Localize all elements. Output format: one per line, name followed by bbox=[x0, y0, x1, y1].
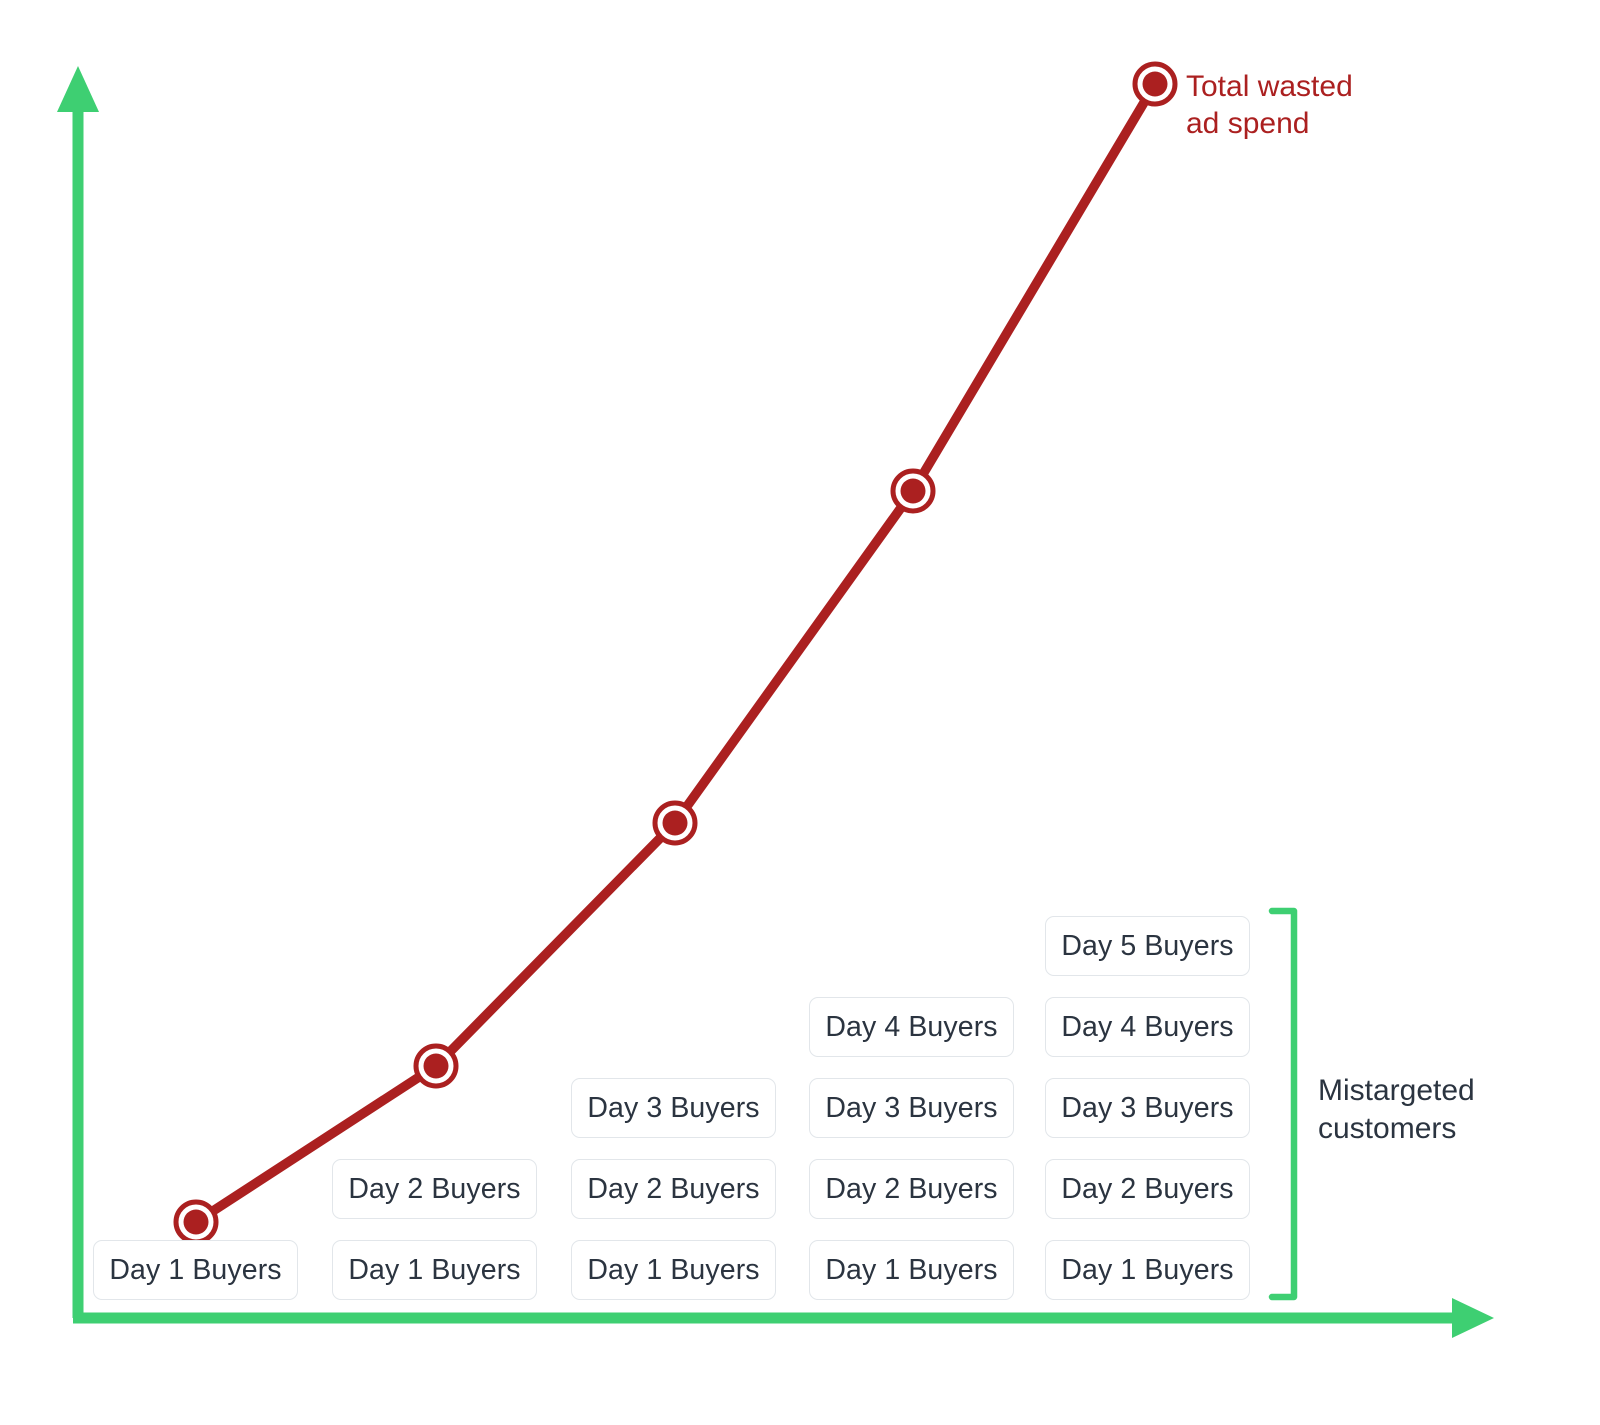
list-item-c4-r3[interactable]: Day 2 Buyers bbox=[809, 1159, 1014, 1219]
bracket-annotation-line-1: Mistargeted bbox=[1318, 1072, 1475, 1110]
y-axis-arrow bbox=[57, 66, 99, 1318]
data-point-day-3 bbox=[655, 803, 695, 843]
list-item-c3-r3[interactable]: Day 1 Buyers bbox=[571, 1240, 776, 1300]
vector-layer bbox=[0, 0, 1600, 1425]
bracket-annotation-line-2: customers bbox=[1318, 1110, 1475, 1148]
data-point-day-2 bbox=[416, 1046, 456, 1086]
data-point-day-4 bbox=[893, 471, 933, 511]
data-point-day-1 bbox=[176, 1202, 216, 1242]
list-item-c2-r2[interactable]: Day 1 Buyers bbox=[332, 1240, 537, 1300]
list-item-c4-r2[interactable]: Day 3 Buyers bbox=[809, 1078, 1014, 1138]
list-item-c5-r2[interactable]: Day 4 Buyers bbox=[1045, 997, 1250, 1057]
list-item-c5-r4[interactable]: Day 2 Buyers bbox=[1045, 1159, 1250, 1219]
list-item-c1-r1[interactable]: Day 1 Buyers bbox=[93, 1240, 298, 1300]
list-item-c3-r1[interactable]: Day 3 Buyers bbox=[571, 1078, 776, 1138]
mistargeted-bracket bbox=[1272, 911, 1294, 1297]
list-item-c2-r1[interactable]: Day 2 Buyers bbox=[332, 1159, 537, 1219]
x-axis-arrow bbox=[73, 1298, 1494, 1338]
series-annotation-line-2: ad spend bbox=[1186, 106, 1353, 143]
list-item-c4-r1[interactable]: Day 4 Buyers bbox=[809, 997, 1014, 1057]
list-item-c5-r5[interactable]: Day 1 Buyers bbox=[1045, 1240, 1250, 1300]
series-annotation-line-1: Total wasted bbox=[1186, 69, 1353, 106]
list-item-c4-r4[interactable]: Day 1 Buyers bbox=[809, 1240, 1014, 1300]
data-point-day-5 bbox=[1135, 64, 1175, 104]
list-item-c5-r1[interactable]: Day 5 Buyers bbox=[1045, 916, 1250, 976]
data-point-markers bbox=[176, 64, 1175, 1242]
diagram-canvas: Total wasted ad spend Mistargeted custom… bbox=[0, 0, 1600, 1425]
series-annotation-total-wasted-ad-spend: Total wasted ad spend bbox=[1186, 69, 1353, 143]
bracket-annotation-mistargeted-customers: Mistargeted customers bbox=[1318, 1072, 1475, 1147]
list-item-c3-r2[interactable]: Day 2 Buyers bbox=[571, 1159, 776, 1219]
list-item-c5-r3[interactable]: Day 3 Buyers bbox=[1045, 1078, 1250, 1138]
